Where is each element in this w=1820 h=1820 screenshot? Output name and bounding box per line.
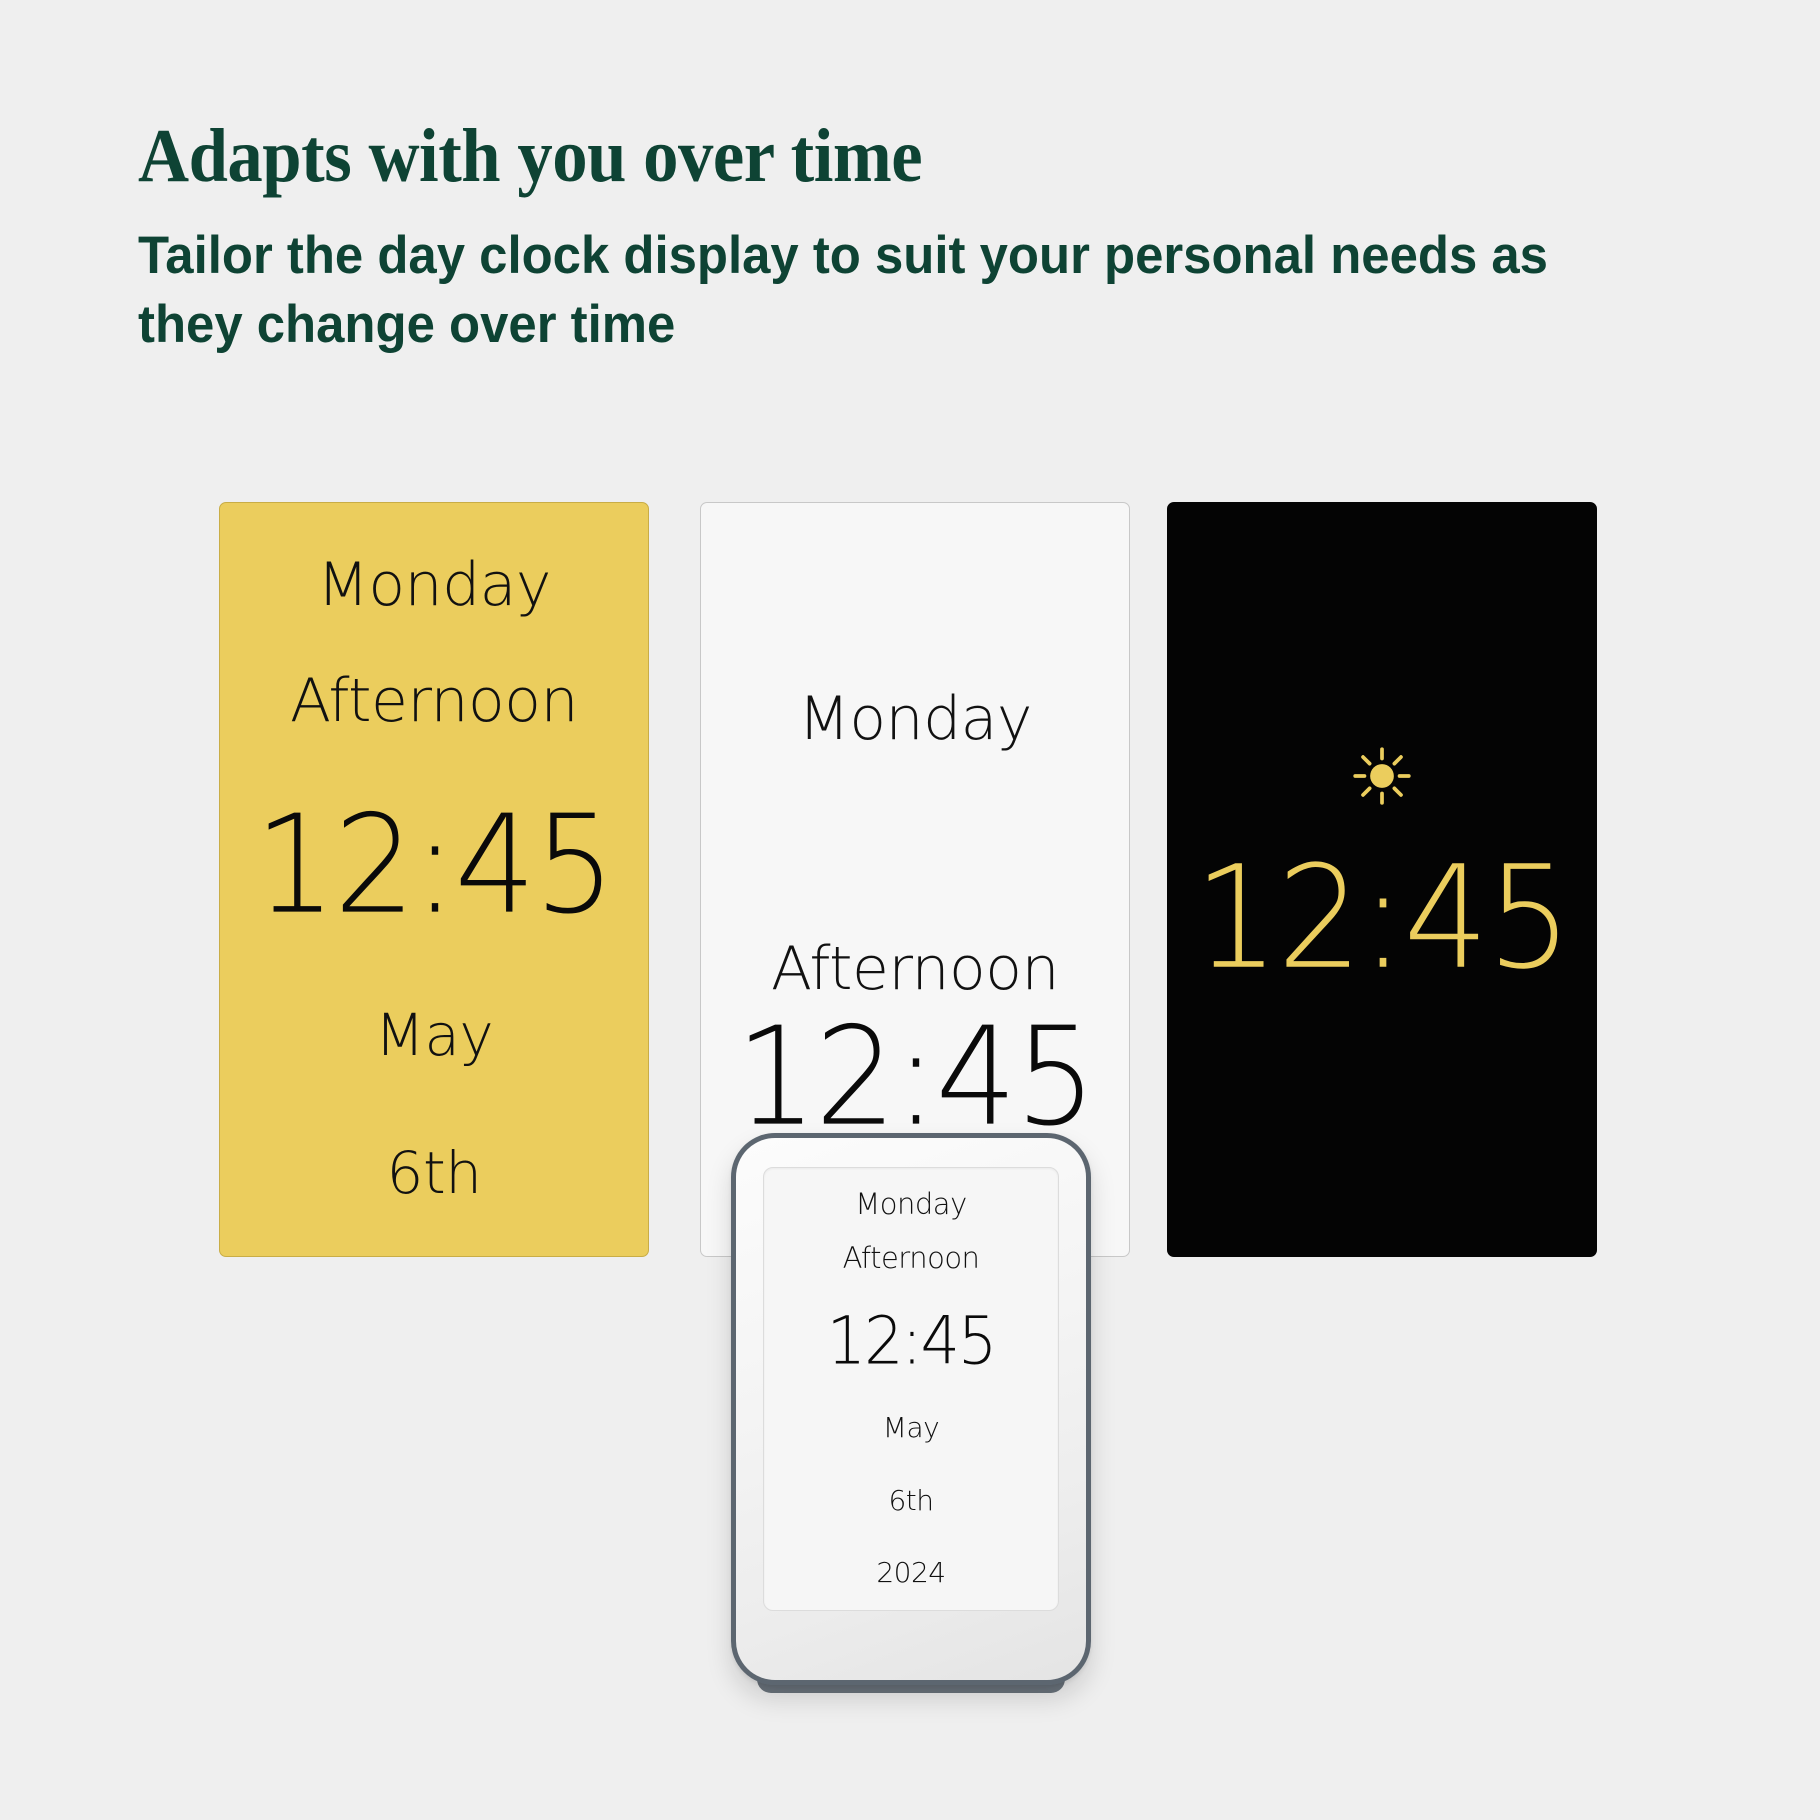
preview-time: 12:45	[255, 798, 614, 934]
page-title: Adapts with you over time	[138, 118, 1589, 194]
page-subtitle: Tailor the day clock display to suit you…	[138, 222, 1607, 360]
device-period-label: Afternoon	[843, 1242, 980, 1276]
preview-day-label: Monday	[798, 685, 1032, 753]
device-screen[interactable]: Monday Afternoon 12:45 May 6th 2024	[763, 1167, 1059, 1611]
preview-time: 12:45	[1194, 847, 1570, 989]
device-date-year: 2024	[876, 1557, 945, 1590]
preview-time: 12:45	[736, 1010, 1095, 1146]
day-clock-device[interactable]: Monday Afternoon 12:45 May 6th 2024	[731, 1133, 1091, 1685]
sun-icon	[1349, 743, 1415, 809]
preview-day-label: Monday	[317, 551, 551, 619]
device-date-day: 6th	[888, 1485, 933, 1518]
preview-date-day: 6th	[387, 1140, 482, 1206]
device-time: 12:45	[827, 1308, 996, 1374]
header: Adapts with you over time Tailor the day…	[138, 118, 1698, 360]
device-day-label: Monday	[855, 1188, 967, 1222]
display-preview-black[interactable]: 12:45	[1167, 502, 1597, 1257]
preview-period-label: Afternoon	[290, 667, 578, 735]
device-date-month: May	[883, 1412, 939, 1445]
preview-date-month: May	[375, 1002, 493, 1068]
display-preview-yellow[interactable]: Monday Afternoon 12:45 May 6th 2024	[219, 502, 649, 1257]
preview-period-label: Afternoon	[771, 935, 1059, 1003]
